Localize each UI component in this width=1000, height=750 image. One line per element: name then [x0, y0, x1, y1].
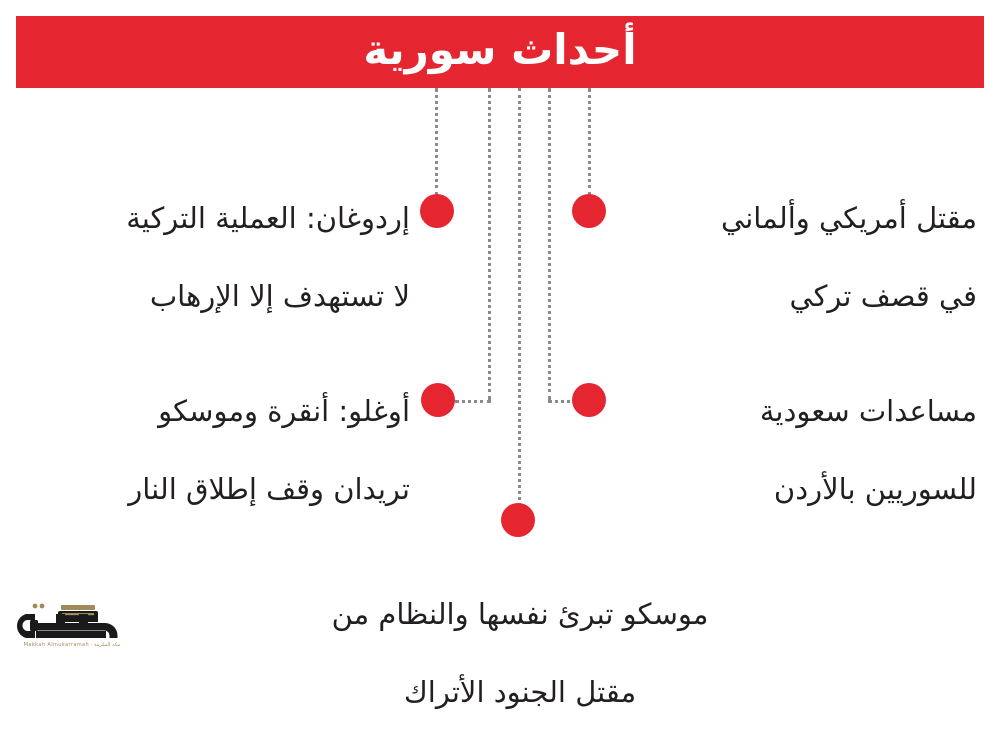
headline-moscow: موسكو تبرئ نفسها والنظام من مقتل الجنود …: [170, 556, 870, 750]
headline-erdogan: إردوغان: العملية التركية لا تستهدف إلا ا…: [10, 160, 410, 354]
headline-moscow-line1: موسكو تبرئ نفسها والنظام من: [170, 595, 870, 634]
headline-erdogan-line1: إردوغان: العملية التركية: [10, 199, 410, 238]
connector-line-oglu-vertical: [488, 88, 491, 400]
bullet-dot-american-german: [572, 194, 606, 228]
headline-american-german-line1: مقتل أمريكي وألماني: [615, 199, 977, 238]
headline-american-german-line2: في قصف تركي: [615, 277, 977, 316]
headline-saudi-aid-line1: مساعدات سعودية: [615, 392, 977, 431]
bullet-dot-erdogan: [420, 194, 454, 228]
headline-oglu: أوغلو: أنقرة وموسكو تريدان وقف إطلاق الن…: [10, 353, 410, 547]
headline-saudi-aid-line2: للسوريين بالأردن: [615, 470, 977, 509]
bullet-dot-moscow: [501, 503, 535, 537]
headline-saudi-aid: مساعدات سعودية للسوريين بالأردن: [615, 353, 977, 547]
headline-oglu-line1: أوغلو: أنقرة وموسكو: [10, 392, 410, 431]
makkah-newspaper-logo: مكة المكرمة · Makkah Almukarramah: [16, 596, 128, 656]
headline-american-german: مقتل أمريكي وألماني في قصف تركي: [615, 160, 977, 354]
headline-oglu-line2: تريدان وقف إطلاق النار: [10, 470, 410, 509]
header-bar: أحداث سورية: [16, 16, 984, 88]
makkah-logo-mark: [16, 596, 128, 644]
bullet-dot-oglu: [421, 383, 455, 417]
page-title: أحداث سورية: [363, 29, 636, 71]
connector-line-saudi-vertical: [548, 88, 551, 400]
headline-moscow-line2: مقتل الجنود الأتراك: [170, 673, 870, 712]
connector-line-erdogan: [435, 88, 438, 196]
infographic-canvas: أحداث سورية إردوغان: العملية التركية لا …: [0, 0, 1000, 668]
headline-erdogan-line2: لا تستهدف إلا الإرهاب: [10, 277, 410, 316]
connector-line-american-german: [588, 88, 591, 196]
makkah-logo-subtitle: مكة المكرمة · Makkah Almukarramah: [16, 642, 128, 648]
connector-line-oglu-horizontal: [455, 400, 491, 403]
connector-line-moscow: [518, 88, 521, 506]
makkah-wordmark-icon: [16, 596, 128, 644]
bullet-dot-saudi: [572, 383, 606, 417]
